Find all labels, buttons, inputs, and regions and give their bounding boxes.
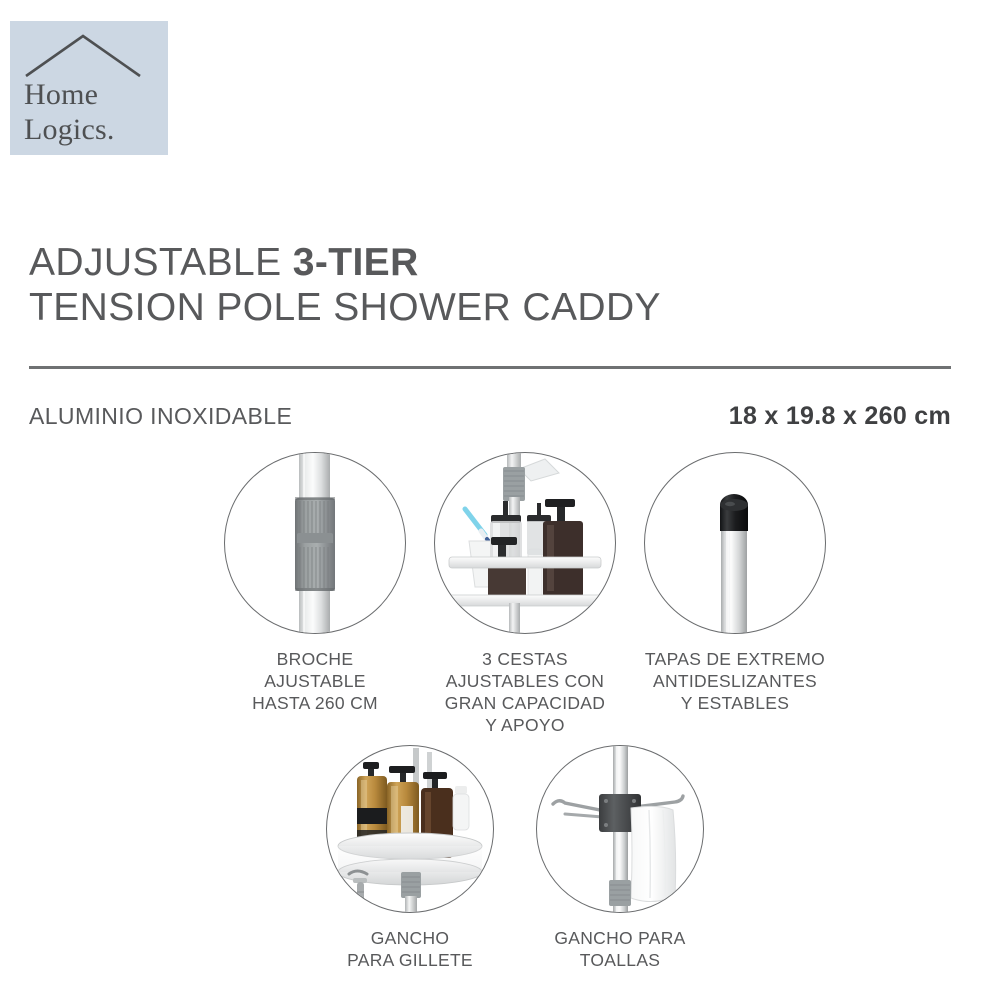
spec-row: ALUMINIO INOXIDABLE 18 x 19.8 x 260 cm <box>29 402 951 431</box>
pole-end-cap-icon <box>645 453 825 633</box>
shelf-with-toiletries-icon <box>435 453 615 633</box>
feature-razor-hook-caption: GANCHO PARA GILLETE <box>305 927 515 971</box>
header-divider <box>29 366 951 369</box>
towel-bar-icon <box>537 746 703 912</box>
feature-towel-hook-caption: GANCHO PARA TOALLAS <box>515 927 725 971</box>
feature-adjustable-clip-circle <box>224 452 406 634</box>
brand-wordmark: Home Logics. <box>24 77 115 147</box>
feature-adjustable-clip-caption: BROCHE AJUSTABLE HASTA 260 CM <box>200 648 430 714</box>
feature-end-caps: TAPAS DE EXTREMO ANTIDESLIZANTES Y ESTAB… <box>620 452 850 714</box>
feature-three-baskets-caption: 3 CESTAS AJUSTABLES CON GRAN CAPACIDAD Y… <box>410 648 640 736</box>
brand-name-line1: Home <box>24 77 115 112</box>
page-title: ADJUSTABLE 3-TIER TENSION POLE SHOWER CA… <box>29 240 959 330</box>
feature-towel-hook: GANCHO PARA TOALLAS <box>515 745 725 971</box>
feature-towel-hook-circle <box>536 745 704 913</box>
feature-adjustable-clip: BROCHE AJUSTABLE HASTA 260 CM <box>200 452 430 714</box>
title-line-2: TENSION POLE SHOWER CADDY <box>29 285 959 330</box>
feature-end-caps-circle <box>644 452 826 634</box>
title-highlight: 3-TIER <box>293 241 419 284</box>
telescopic-pole-collar-icon <box>225 453 405 633</box>
material-label: ALUMINIO INOXIDABLE <box>29 403 292 430</box>
feature-three-baskets: 3 CESTAS AJUSTABLES CON GRAN CAPACIDAD Y… <box>410 452 640 736</box>
dimensions-label: 18 x 19.8 x 260 cm <box>729 402 951 431</box>
feature-end-caps-caption: TAPAS DE EXTREMO ANTIDESLIZANTES Y ESTAB… <box>620 648 850 714</box>
title-line-1: ADJUSTABLE 3-TIER <box>29 240 959 285</box>
brand-name-line2: Logics. <box>24 112 115 147</box>
house-roof-icon <box>24 33 142 78</box>
feature-razor-hook-circle <box>326 745 494 913</box>
feature-razor-hook: GANCHO PARA GILLETE <box>305 745 515 971</box>
feature-three-baskets-circle <box>434 452 616 634</box>
title-prefix: ADJUSTABLE <box>29 241 293 284</box>
shelf-with-razor-hook-icon <box>327 746 493 912</box>
brand-logo-badge: Home Logics. <box>10 21 168 155</box>
